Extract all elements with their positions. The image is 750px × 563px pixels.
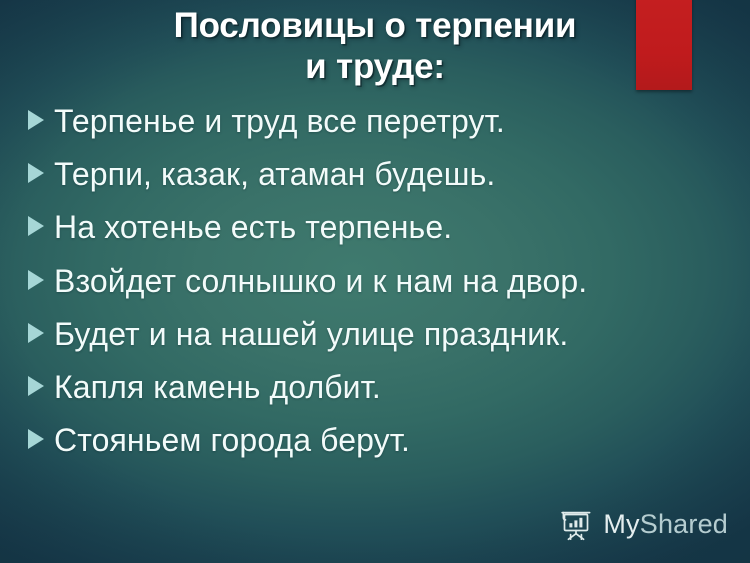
- list-item: Терпи, казак, атаман будешь.: [28, 153, 716, 195]
- myshared-wordmark: MyShared: [603, 509, 728, 540]
- presentation-chart-icon: [558, 508, 594, 541]
- list-item-text: Капля камень долбит.: [54, 366, 716, 408]
- myshared-word-shared: Shared: [640, 509, 728, 539]
- triangle-right-icon: [28, 323, 54, 343]
- triangle-right-icon: [28, 216, 54, 236]
- proverb-list: Терпенье и труд все перетрут. Терпи, каз…: [28, 100, 716, 473]
- myshared-word-my: My: [603, 509, 639, 539]
- triangle-right-icon: [28, 110, 54, 130]
- list-item: На хотенье есть терпенье.: [28, 206, 716, 248]
- presentation-slide: Пословицы о терпении и труде: Терпенье и…: [0, 0, 750, 563]
- list-item: Взойдет солнышко и к нам на двор.: [28, 260, 716, 302]
- list-item: Стояньем города берут.: [28, 419, 716, 461]
- list-item-text: Терпи, казак, атаман будешь.: [54, 153, 716, 195]
- list-item-text: Стояньем города берут.: [54, 419, 716, 461]
- list-item: Капля камень долбит.: [28, 366, 716, 408]
- slide-title: Пословицы о терпении и труде:: [0, 6, 750, 88]
- list-item: Будет и на нашей улице праздник.: [28, 313, 716, 355]
- list-item: Терпенье и труд все перетрут.: [28, 100, 716, 142]
- myshared-watermark: MyShared: [558, 508, 728, 541]
- list-item-text: Терпенье и труд все перетрут.: [54, 100, 716, 142]
- list-item-text: На хотенье есть терпенье.: [54, 206, 716, 248]
- list-item-text: Будет и на нашей улице праздник.: [54, 313, 716, 355]
- triangle-right-icon: [28, 429, 54, 449]
- triangle-right-icon: [28, 270, 54, 290]
- list-item-text: Взойдет солнышко и к нам на двор.: [54, 260, 716, 302]
- triangle-right-icon: [28, 163, 54, 183]
- triangle-right-icon: [28, 376, 54, 396]
